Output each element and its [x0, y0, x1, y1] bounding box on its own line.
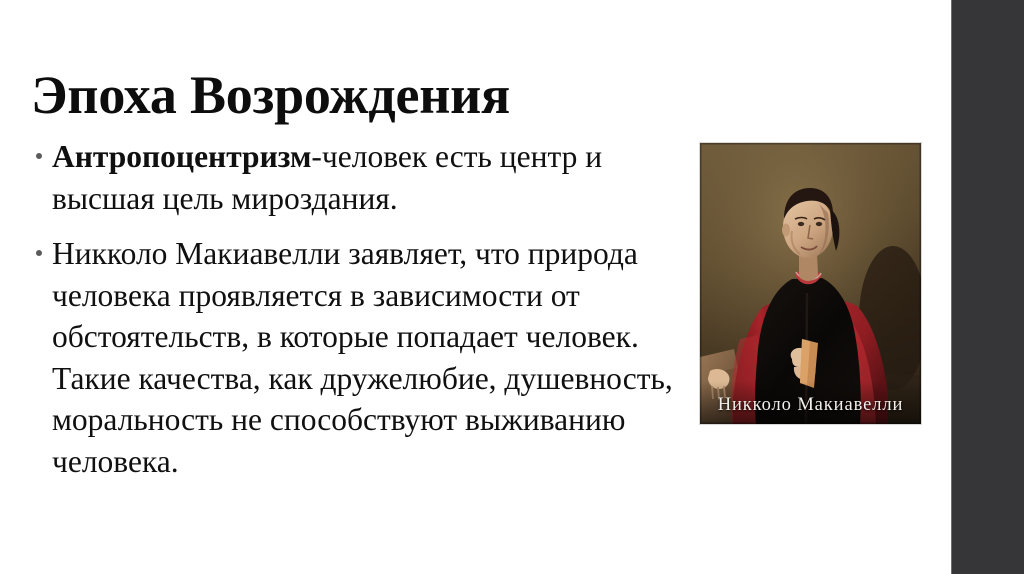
page-title: Эпоха Возрождения [31, 66, 771, 124]
bullet-text-2: Никколо Макиавелли заявляет, что природа… [52, 236, 673, 479]
bullet-dot-icon [36, 250, 42, 256]
list-item: Никколо Макиавелли заявляет, что природа… [26, 233, 678, 482]
list-item: Антропоцентризм-человек есть центр и выс… [26, 136, 678, 219]
bullet-dot-icon [36, 153, 42, 159]
right-side-panel [951, 0, 1024, 574]
presentation-slide: Эпоха Возрождения Антропоцентризм-челове… [0, 0, 1024, 574]
bullet-rest-2: Никколо Макиавелли заявляет, что природа… [52, 236, 673, 479]
bullet-list: Антропоцентризм-человек есть центр и выс… [26, 136, 678, 482]
bullet-text-1: Антропоцентризм-человек есть центр и выс… [52, 139, 602, 216]
bullet-lead-term-1: Антропоцентризм [52, 139, 311, 174]
portrait-caption: Никколо Макиавелли [700, 394, 921, 416]
portrait-image [700, 143, 921, 424]
machiavelli-portrait: Никколо Макиавелли [700, 143, 921, 424]
